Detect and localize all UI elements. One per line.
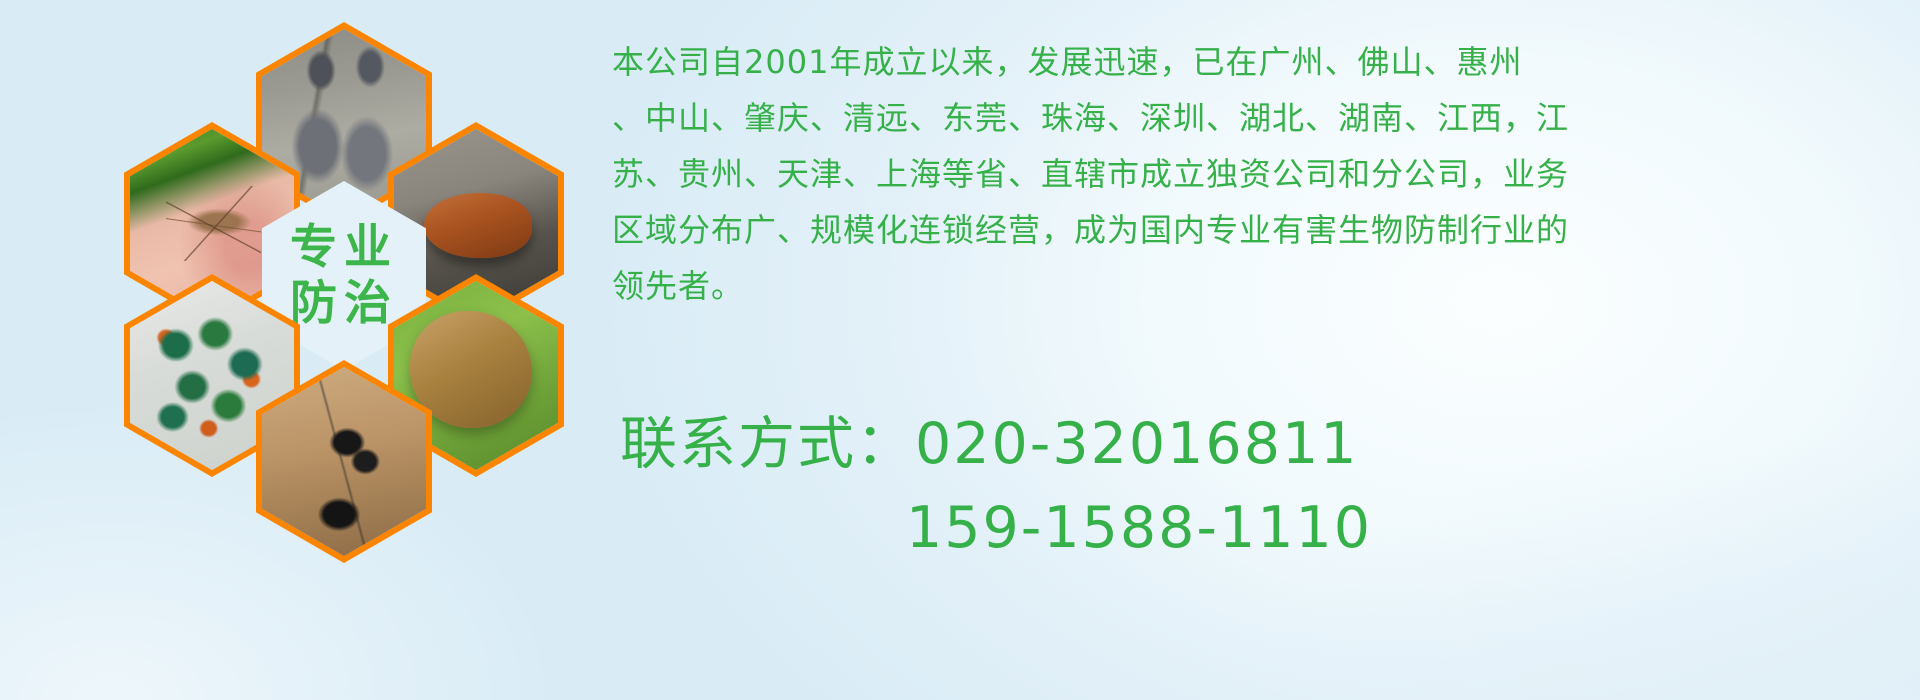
contact-phone-mobile[interactable]: 159-1588-1110 bbox=[906, 486, 1920, 570]
hex-photo-cluster: 专业 防治 bbox=[88, 8, 588, 568]
intro-paragraph: 本公司自2001年成立以来，发展迅速，已在广州、佛山、惠州 、中山、肇庆、清远、… bbox=[612, 34, 1908, 314]
intro-line-4: 区域分布广、规模化连锁经营，成为国内专业有害生物防制行业的 bbox=[612, 202, 1908, 258]
hive-label-line2: 防治 bbox=[290, 276, 398, 331]
banner-root: 专业 防治 本公司自2001年成立以来，发展迅速，已在广州、佛山、惠州 、中山、… bbox=[0, 0, 1920, 700]
ant-photo bbox=[262, 367, 426, 556]
contact-block: 联系方式：020-32016811 159-1588-1110 bbox=[620, 402, 1920, 570]
hive-label-line1: 专业 bbox=[290, 220, 398, 275]
intro-line-5: 领先者。 bbox=[612, 258, 1908, 314]
intro-line-1: 本公司自2001年成立以来，发展迅速，已在广州、佛山、惠州 bbox=[612, 34, 1908, 90]
intro-line-2: 、中山、肇庆、清远、东莞、珠海、深圳、湖北、湖南、江西，江 bbox=[612, 90, 1908, 146]
intro-line-3: 苏、贵州、天津、上海等省、直辖市成立独资公司和分公司，业务 bbox=[612, 146, 1908, 202]
contact-phone-landline[interactable]: 联系方式：020-32016811 bbox=[620, 402, 1920, 486]
